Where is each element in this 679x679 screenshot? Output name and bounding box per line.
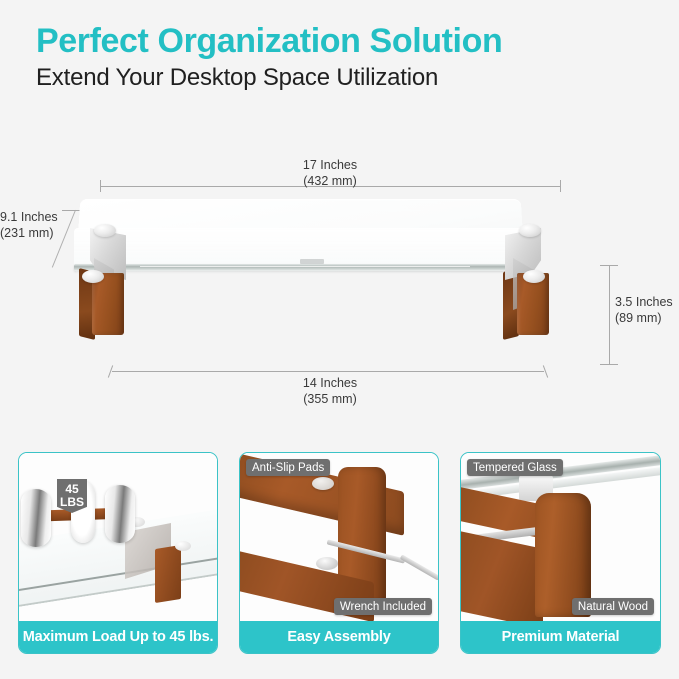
monitor-stand-render: [0, 140, 679, 425]
infographic-page: Perfect Organization Solution Extend You…: [0, 0, 679, 679]
page-subtitle: Extend Your Desktop Space Utilization: [36, 63, 636, 93]
header: Perfect Organization Solution Extend You…: [36, 22, 636, 93]
easy-assembly-illustration: Anti-Slip Pads Wrench Included: [240, 453, 438, 623]
leg-wood-art: [155, 545, 181, 603]
badge-natural-wood: Natural Wood: [572, 598, 654, 615]
dumbbell-plate-right: [105, 485, 135, 543]
weight-tag-unit: LBS: [60, 496, 84, 509]
badge-wrench-included: Wrench Included: [334, 598, 432, 615]
left-leg-knob-upper: [94, 224, 116, 237]
left-leg: [78, 218, 138, 336]
right-leg-knob-upper: [519, 224, 541, 237]
page-title: Perfect Organization Solution: [36, 22, 636, 60]
knob-art-lower: [175, 541, 191, 551]
feature-panel-max-load[interactable]: 45 LBS Maximum Load Up to 45 lbs.: [18, 452, 218, 654]
wood-lower-face: [461, 529, 543, 623]
feature-panel-easy-assembly[interactable]: Anti-Slip Pads Wrench Included Easy Asse…: [239, 452, 439, 654]
left-leg-knob-lower: [82, 270, 104, 283]
max-load-illustration: 45 LBS: [19, 453, 217, 623]
anti-slip-pad: [312, 477, 334, 490]
feature-panel-premium-material[interactable]: Tempered Glass Natural Wood Premium Mate…: [460, 452, 661, 654]
feature-panels: 45 LBS Maximum Load Up to 45 lbs. Anti-S…: [0, 452, 679, 662]
feature-caption-max-load: Maximum Load Up to 45 lbs.: [19, 621, 217, 653]
premium-material-illustration: Tempered Glass Natural Wood: [461, 453, 660, 623]
dumbbell-plate-left: [21, 489, 51, 547]
brand-logo-etch: [300, 259, 324, 264]
glass-edge-highlight: [140, 266, 470, 267]
badge-tempered-glass: Tempered Glass: [467, 459, 563, 476]
weight-tag: 45 LBS: [57, 479, 87, 513]
badge-anti-slip-pads: Anti-Slip Pads: [246, 459, 330, 476]
product-diagram: 17 Inches (432 mm) 9.1 Inches (231 mm) 3…: [0, 140, 679, 425]
right-leg-knob-lower: [523, 270, 545, 283]
feature-caption-easy-assembly: Easy Assembly: [240, 621, 438, 653]
wrench-handle: [400, 554, 438, 580]
feature-caption-premium-material: Premium Material: [461, 621, 660, 653]
right-leg: [497, 218, 557, 336]
assembly-screw: [316, 557, 338, 570]
